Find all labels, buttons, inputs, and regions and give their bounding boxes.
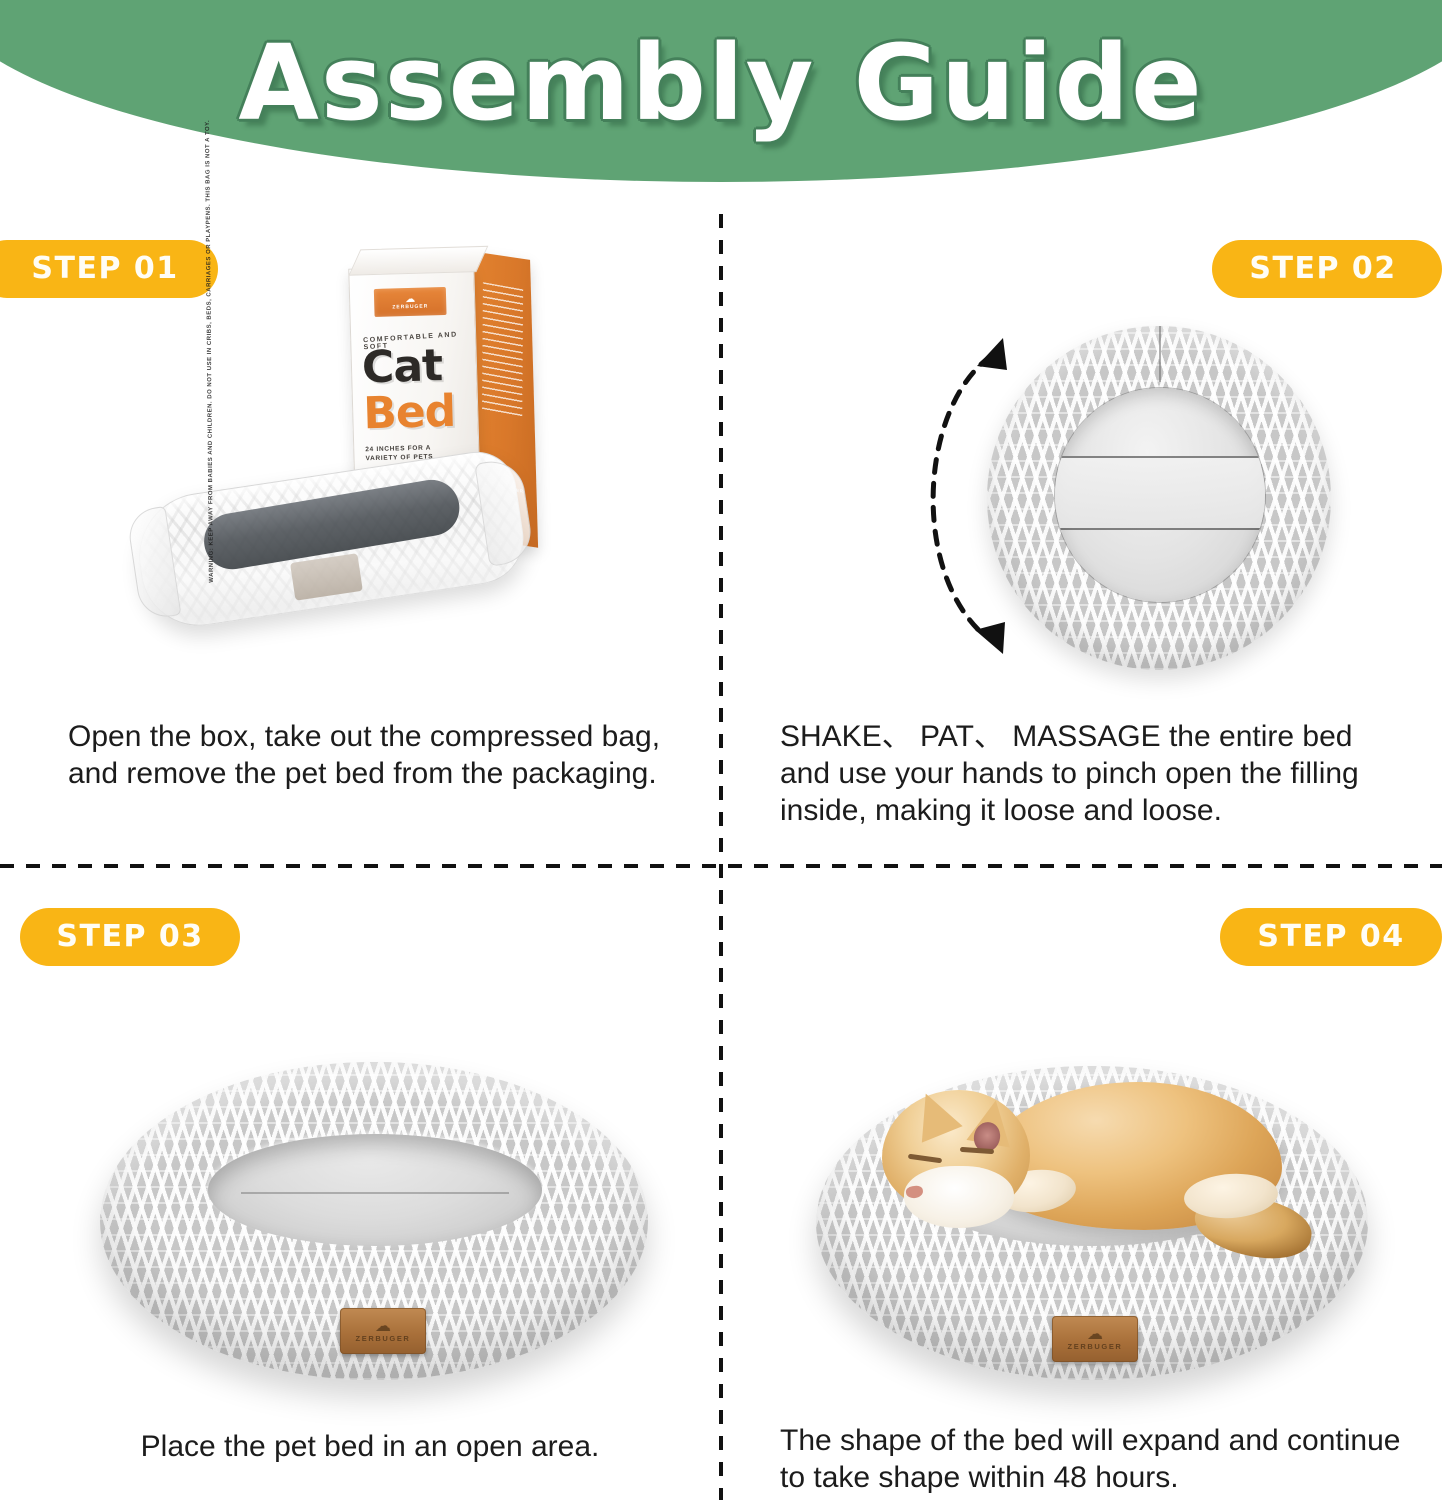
- page-title: Assembly Guide: [0, 28, 1442, 138]
- bed-inner-cushion: [208, 1134, 542, 1246]
- step-02-illustration: [905, 318, 1335, 698]
- step-badge-03: STEP 03: [20, 908, 240, 966]
- cat-ear-left: [905, 1085, 962, 1142]
- brand-leather-tag: ☁ ZERBUGER: [1052, 1316, 1138, 1362]
- horizontal-dashed-divider: [0, 864, 1442, 868]
- step-03-illustration: ☁ ZERBUGER: [92, 1048, 658, 1398]
- product-box-brand: ZERBUGER: [392, 303, 428, 310]
- bed-top-seam: [1159, 326, 1161, 382]
- sleeping-cat: [854, 1048, 1324, 1288]
- tag-brand-label: ZERBUGER: [1068, 1342, 1123, 1351]
- product-box-logo: ☁ ZERBUGER: [374, 287, 447, 317]
- cloud-icon: ☁: [1087, 1327, 1103, 1342]
- donut-bed-top-view: [987, 326, 1331, 670]
- step-04-illustration: ☁ ZERBUGER: [810, 1042, 1380, 1398]
- assembly-guide-page: Assembly Guide STEP 01 ☁ ZERBUGER ☁ ZERB…: [0, 0, 1442, 1500]
- tag-brand-label: ZERBUGER: [356, 1334, 411, 1343]
- step-04-caption: The shape of the bed will expand and con…: [780, 1422, 1402, 1496]
- header-banner: Assembly Guide: [0, 0, 1442, 182]
- step-02-caption: SHAKE、 PAT、 MASSAGE the entire bed and u…: [780, 718, 1406, 829]
- brand-leather-tag: ☁ ZERBUGER: [340, 1308, 426, 1354]
- cloud-icon: ☁: [375, 1319, 391, 1334]
- step-badge-04: STEP 04: [1220, 908, 1442, 966]
- cushion-seam-upper: [1055, 456, 1265, 458]
- product-box-top-panel: [348, 246, 488, 276]
- box-side-text-lines: [482, 282, 523, 419]
- cat-head: [882, 1090, 1030, 1216]
- vacuum-bag-plastic: WARNING: KEEP AWAY FROM BABIES AND CHILD…: [130, 446, 529, 633]
- cat-muzzle: [904, 1166, 1014, 1228]
- cushion-seam-lower: [1055, 528, 1265, 530]
- vertical-dashed-divider: [719, 214, 723, 1500]
- step-01-illustration: ☁ ZERBUGER ☁ ZERBUGER COMFORTABLE AND SO…: [120, 248, 680, 678]
- step-03-caption: Place the pet bed in an open area.: [60, 1428, 680, 1465]
- cushion-middle-band: [1055, 456, 1265, 528]
- step-01-caption: Open the box, take out the compressed ba…: [68, 718, 682, 792]
- compressed-bag: WARNING: KEEP AWAY FROM BABIES AND CHILD…: [128, 432, 531, 647]
- bed-inner-cushion: [1055, 388, 1265, 602]
- donut-bed-empty: ☁ ZERBUGER: [100, 1062, 648, 1380]
- product-name-line-2: Bed: [363, 391, 456, 436]
- step-badge-02: STEP 02: [1212, 240, 1442, 298]
- cloud-icon: ☁: [405, 294, 415, 303]
- product-name-line-1: Cat: [361, 345, 442, 389]
- cushion-seam: [241, 1192, 508, 1194]
- double-headed-dashed-arrow-icon: [899, 322, 1029, 670]
- cat-closed-eye-left: [908, 1154, 942, 1164]
- cat-closed-eye-right: [960, 1147, 994, 1154]
- bag-warning-label: WARNING: KEEP AWAY FROM BABIES AND CHILD…: [208, 532, 316, 583]
